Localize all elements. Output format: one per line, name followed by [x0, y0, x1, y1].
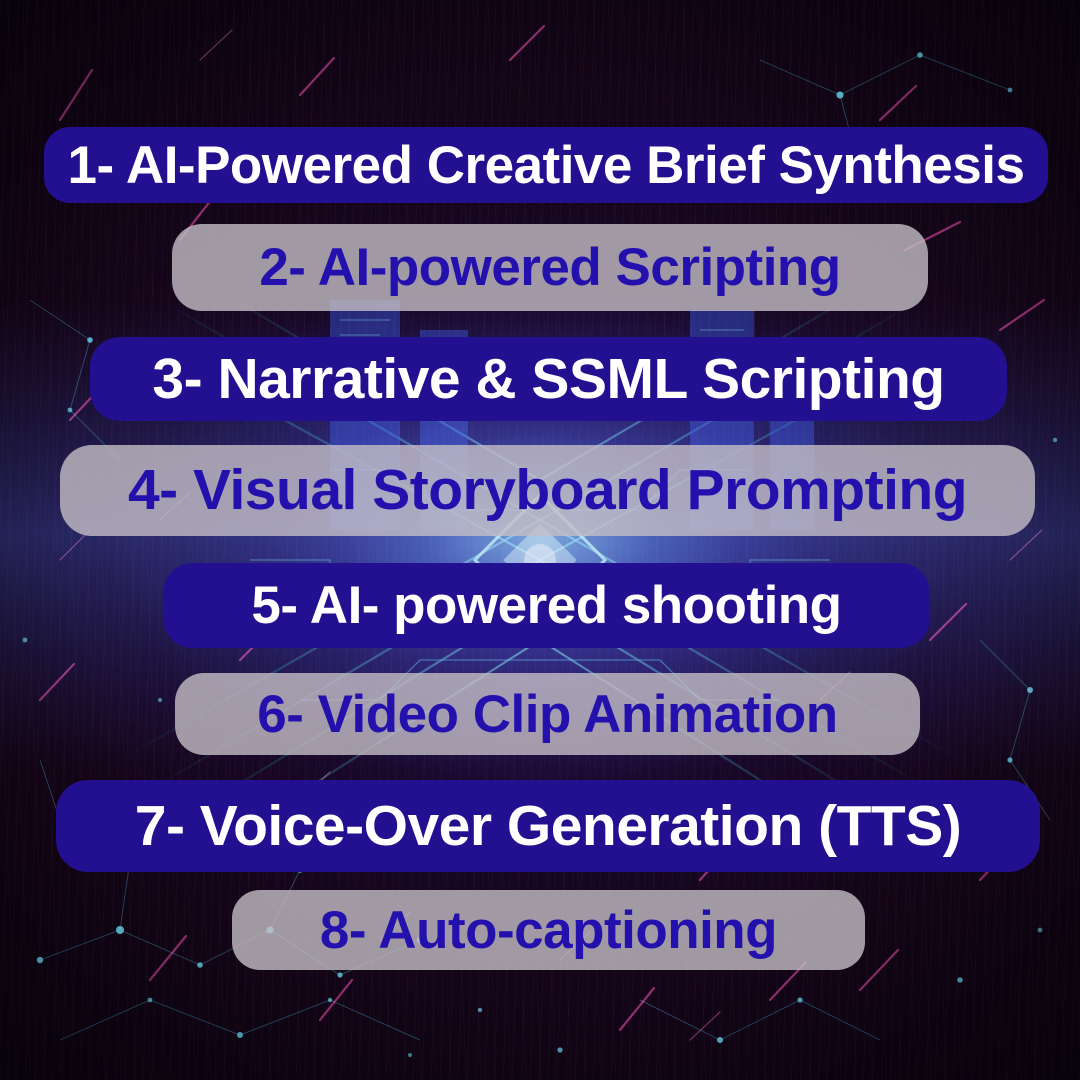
pipeline-step-3[interactable]: 3- Narrative & SSML Scripting: [90, 337, 1007, 421]
pipeline-step-7[interactable]: 7- Voice-Over Generation (TTS): [56, 780, 1040, 872]
pipeline-step-4[interactable]: 4- Visual Storyboard Prompting: [60, 445, 1035, 536]
poster-canvas: 1- AI-Powered Creative Brief Synthesis2-…: [0, 0, 1080, 1080]
pipeline-step-6[interactable]: 6- Video Clip Animation: [175, 673, 920, 755]
pipeline-step-label: 7- Voice-Over Generation (TTS): [135, 798, 961, 855]
pipeline-step-label: 4- Visual Storyboard Prompting: [128, 462, 967, 519]
pipeline-step-5[interactable]: 5- AI- powered shooting: [163, 563, 930, 648]
pipeline-step-2[interactable]: 2- AI-powered Scripting: [172, 224, 928, 311]
pipeline-step-label: 6- Video Clip Animation: [257, 688, 837, 741]
pipeline-step-1[interactable]: 1- AI-Powered Creative Brief Synthesis: [44, 127, 1048, 203]
pipeline-step-label: 1- AI-Powered Creative Brief Synthesis: [68, 139, 1025, 192]
pipeline-step-label: 5- AI- powered shooting: [251, 579, 841, 632]
pipeline-step-8[interactable]: 8- Auto-captioning: [232, 890, 865, 970]
pipeline-step-label: 8- Auto-captioning: [320, 904, 777, 957]
pipeline-step-label: 3- Narrative & SSML Scripting: [152, 351, 944, 408]
pipeline-step-label: 2- AI-powered Scripting: [259, 241, 840, 294]
